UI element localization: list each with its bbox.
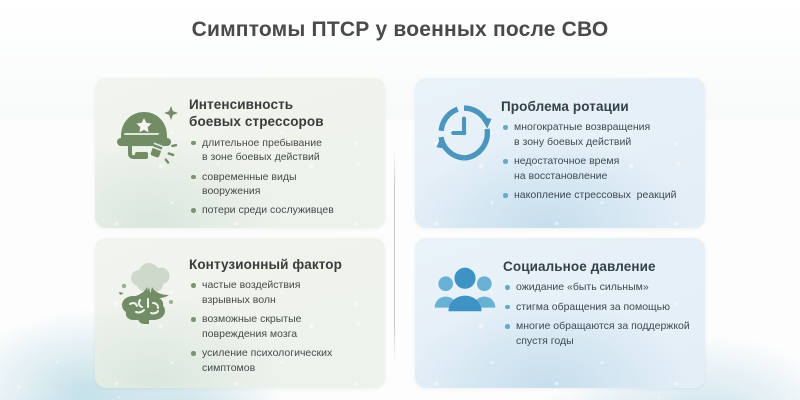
clock-rotation-icon [431, 100, 497, 166]
list-item: длительное пребывание в зоне боевых дейс… [189, 136, 373, 165]
column-divider [394, 148, 395, 363]
card-intensity[interactable]: Интенсивность боевых стрессоров длительн… [95, 78, 385, 228]
card-bullet-list: длительное пребывание в зоне боевых дейс… [189, 136, 373, 218]
list-item: многократные возвращения в зону боевых д… [501, 120, 693, 149]
list-item: стигма обращения за помощью [503, 300, 693, 314]
list-item: многие обращаются за поддержкой спустя г… [503, 319, 693, 348]
card-body: Интенсивность боевых стрессоров длительн… [189, 88, 373, 218]
page-title-wrapper: Симптомы ПТСР у военных после СВО [0, 18, 800, 42]
military-helmet-icon [111, 96, 185, 170]
card-heading: Интенсивность боевых стрессоров [189, 96, 373, 131]
list-item: накопление стрессовых реакций [501, 188, 693, 202]
people-group-icon [431, 258, 499, 326]
card-bullet-list: ожидание «быть сильным» стигма обращения… [503, 280, 693, 348]
page-title: Симптомы ПТСР у военных после СВО [192, 18, 609, 42]
card-concussion[interactable]: Контузионный фактор частые воздействия в… [95, 238, 385, 388]
brain-blast-icon [111, 256, 185, 330]
factor-card-grid: Интенсивность боевых стрессоров длительн… [95, 78, 705, 388]
card-rotation[interactable]: Проблема ротации многократные возвращени… [415, 78, 705, 228]
card-bullet-list: многократные возвращения в зону боевых д… [501, 120, 693, 202]
card-body: Контузионный фактор частые воздействия в… [189, 248, 373, 375]
card-heading: Контузионный фактор [189, 256, 373, 273]
list-item: потери среди сослуживцев [189, 203, 373, 217]
list-item: возможные скрытые повреждения мозга [189, 312, 373, 341]
card-heading: Проблема ротации [501, 98, 693, 115]
list-item: недостаточное время на восстановление [501, 154, 693, 183]
card-body: Проблема ротации многократные возвращени… [501, 88, 693, 203]
card-heading: Социальное давление [503, 258, 693, 275]
card-bullet-list: частые воздействия взрывных волн возможн… [189, 278, 373, 375]
list-item: современные виды вооружения [189, 170, 373, 199]
list-item: ожидание «быть сильным» [503, 280, 693, 294]
card-social-pressure[interactable]: Социальное давление ожидание «быть сильн… [415, 238, 705, 388]
list-item: частые воздействия взрывных волн [189, 278, 373, 307]
list-item: усиление психологических симптомов [189, 346, 373, 375]
card-body: Социальное давление ожидание «быть сильн… [503, 248, 693, 348]
